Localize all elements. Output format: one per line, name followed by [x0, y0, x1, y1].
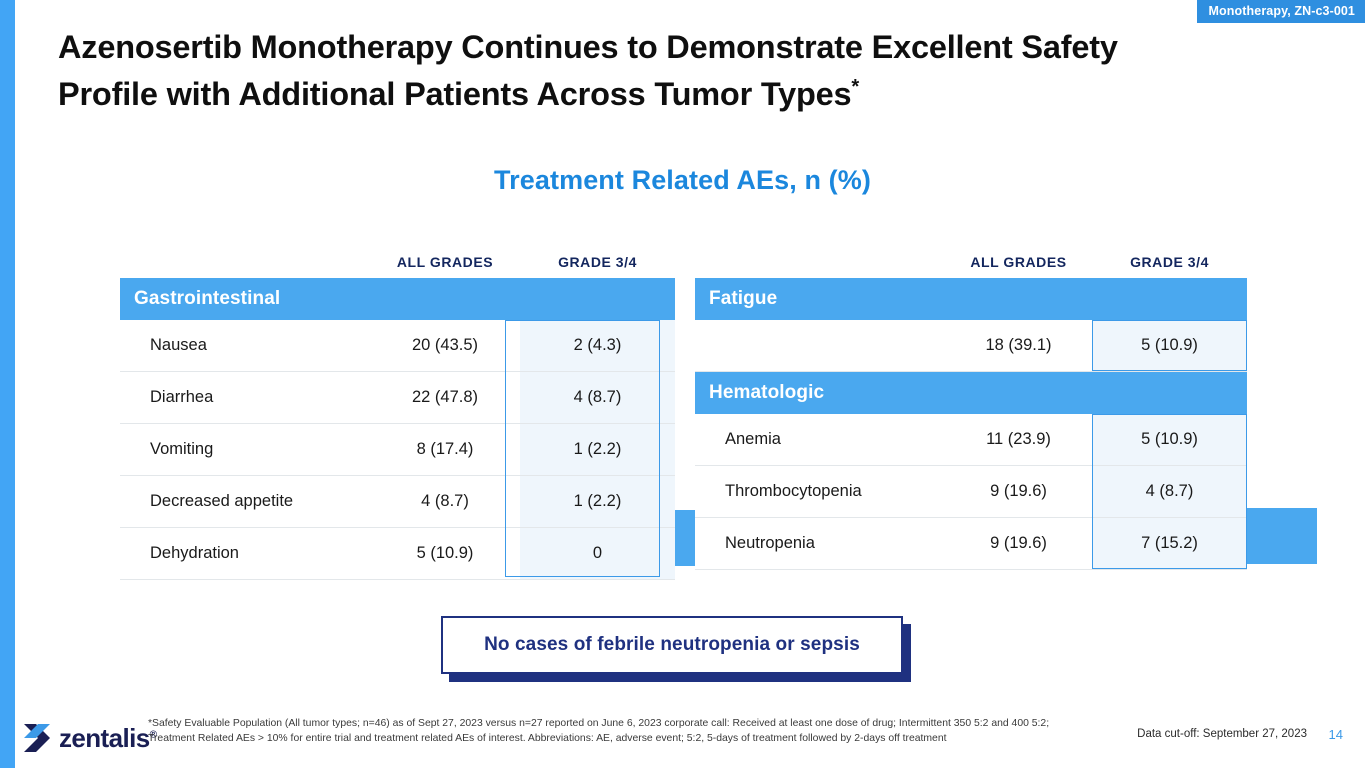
page-number: 14 — [1329, 727, 1343, 742]
row-grade-34: 4 (8.7) — [1092, 466, 1247, 518]
table-section-header: Hematologic — [695, 372, 1247, 415]
section-label-hematologic: Hematologic — [695, 372, 1247, 415]
row-name — [695, 320, 945, 372]
right-table-block: ALL GRADES GRADE 3/4 Fatigue 18 (39.1) 5… — [695, 248, 1247, 570]
row-name: Nausea — [120, 320, 370, 372]
row-name: Anemia — [695, 414, 945, 466]
row-grade-34: 1 (2.2) — [520, 476, 675, 528]
footnote-line-2: Treatment Related AEs > 10% for entire t… — [148, 731, 1138, 746]
table-section-header: Gastrointestinal — [120, 278, 675, 320]
left-column-header-row: ALL GRADES GRADE 3/4 — [120, 248, 675, 278]
row-name: Vomiting — [120, 424, 370, 476]
right-column-header-row: ALL GRADES GRADE 3/4 — [695, 248, 1247, 278]
callout-text: No cases of febrile neutropenia or sepsi… — [484, 634, 860, 656]
section-subtitle: Treatment Related AEs, n (%) — [0, 165, 1365, 196]
table-section-header: Fatigue — [695, 278, 1247, 320]
footnote: *Safety Evaluable Population (All tumor … — [148, 716, 1138, 746]
row-name: Diarrhea — [120, 372, 370, 424]
row-all-grades: 9 (19.6) — [945, 466, 1092, 518]
corner-tag: Monotherapy, ZN-c3-001 — [1197, 0, 1365, 23]
section-label-fatigue: Fatigue — [695, 278, 1247, 320]
zentalis-logo: zentalis® — [22, 722, 156, 754]
table-row: Vomiting 8 (17.4) 1 (2.2) — [120, 424, 675, 476]
table-row: Neutropenia 9 (19.6) 7 (15.2) — [695, 518, 1247, 570]
left-col-header-all-grades: ALL GRADES — [370, 248, 520, 278]
row-grade-34: 5 (10.9) — [1092, 414, 1247, 466]
row-all-grades: 8 (17.4) — [370, 424, 520, 476]
right-col-header-all-grades: ALL GRADES — [945, 248, 1092, 278]
row-name: Thrombocytopenia — [695, 466, 945, 518]
row-all-grades: 20 (43.5) — [370, 320, 520, 372]
title-superscript: * — [851, 76, 859, 98]
title-line-1: Azenosertib Monotherapy Continues to Dem… — [58, 29, 1118, 65]
title-line-2: Profile with Additional Patients Across … — [58, 76, 851, 112]
row-all-grades: 5 (10.9) — [370, 528, 520, 580]
row-grade-34: 0 — [520, 528, 675, 580]
row-grade-34: 1 (2.2) — [520, 424, 675, 476]
zentalis-logo-icon — [22, 722, 52, 754]
footnote-line-1: *Safety Evaluable Population (All tumor … — [148, 716, 1138, 731]
row-name: Dehydration — [120, 528, 370, 580]
row-all-grades: 11 (23.9) — [945, 414, 1092, 466]
table-row: Diarrhea 22 (47.8) 4 (8.7) — [120, 372, 675, 424]
table-row: Dehydration 5 (10.9) 0 — [120, 528, 675, 580]
row-grade-34: 4 (8.7) — [520, 372, 675, 424]
row-grade-34: 5 (10.9) — [1092, 320, 1247, 372]
row-name: Decreased appetite — [120, 476, 370, 528]
right-col-header-grade-34: GRADE 3/4 — [1092, 248, 1247, 278]
table-row: 18 (39.1) 5 (10.9) — [695, 320, 1247, 372]
left-col-header-grade-34: GRADE 3/4 — [520, 248, 675, 278]
left-ae-table: ALL GRADES GRADE 3/4 Gastrointestinal Na… — [120, 248, 675, 580]
section-label-gastrointestinal: Gastrointestinal — [120, 278, 675, 320]
left-col-header-name — [120, 248, 370, 278]
zentalis-logo-text: zentalis® — [59, 725, 156, 751]
tables-container: ALL GRADES GRADE 3/4 Gastrointestinal Na… — [0, 248, 1365, 588]
row-grade-34: 2 (4.3) — [520, 320, 675, 372]
row-all-grades: 4 (8.7) — [370, 476, 520, 528]
page-title: Azenosertib Monotherapy Continues to Dem… — [58, 24, 1328, 118]
table-row: Anemia 11 (23.9) 5 (10.9) — [695, 414, 1247, 466]
row-all-grades: 22 (47.8) — [370, 372, 520, 424]
footer: zentalis® *Safety Evaluable Population (… — [0, 708, 1365, 768]
data-cutoff-label: Data cut-off: September 27, 2023 — [1137, 728, 1307, 740]
row-all-grades: 9 (19.6) — [945, 518, 1092, 570]
row-name: Neutropenia — [695, 518, 945, 570]
callout-container: No cases of febrile neutropenia or sepsi… — [441, 616, 903, 674]
right-ae-table: ALL GRADES GRADE 3/4 Fatigue 18 (39.1) 5… — [695, 248, 1247, 570]
table-row: Thrombocytopenia 9 (19.6) 4 (8.7) — [695, 466, 1247, 518]
row-grade-34: 7 (15.2) — [1092, 518, 1247, 570]
slide: Monotherapy, ZN-c3-001 Azenosertib Monot… — [0, 0, 1365, 768]
left-table-block: ALL GRADES GRADE 3/4 Gastrointestinal Na… — [120, 248, 660, 580]
table-row: Nausea 20 (43.5) 2 (4.3) — [120, 320, 675, 372]
callout-box: No cases of febrile neutropenia or sepsi… — [441, 616, 903, 674]
right-col-header-name — [695, 248, 945, 278]
table-row: Decreased appetite 4 (8.7) 1 (2.2) — [120, 476, 675, 528]
row-all-grades: 18 (39.1) — [945, 320, 1092, 372]
